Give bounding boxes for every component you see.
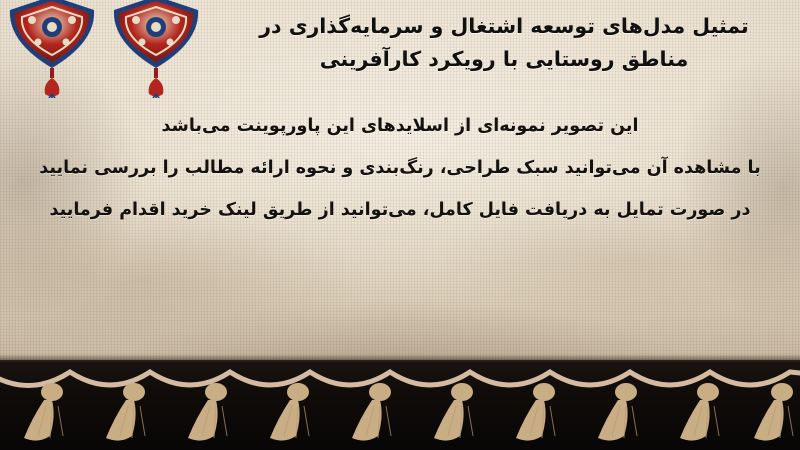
suzani-medallion-icon (6, 0, 98, 98)
tassel-fringe (0, 358, 800, 450)
bottom-black-band (0, 360, 800, 450)
slide-body: این تصویر نمونه‌ای از اسلایدهای این پاور… (18, 108, 782, 234)
slide-canvas: تمثیل مدل‌های توسعه اشتغال و سرمایه‌گذار… (0, 0, 800, 450)
body-line: با مشاهده آن می‌توانید سبک طراحی، رنگ‌بن… (18, 150, 782, 186)
body-line: در صورت تمایل به دریافت فایل کامل، می‌تو… (18, 192, 782, 228)
slide-title: تمثیل مدل‌های توسعه اشتغال و سرمایه‌گذار… (236, 10, 772, 76)
decorative-motif-group (0, 0, 240, 104)
suzani-medallion-icon (110, 0, 202, 98)
body-line: این تصویر نمونه‌ای از اسلایدهای این پاور… (18, 108, 782, 144)
